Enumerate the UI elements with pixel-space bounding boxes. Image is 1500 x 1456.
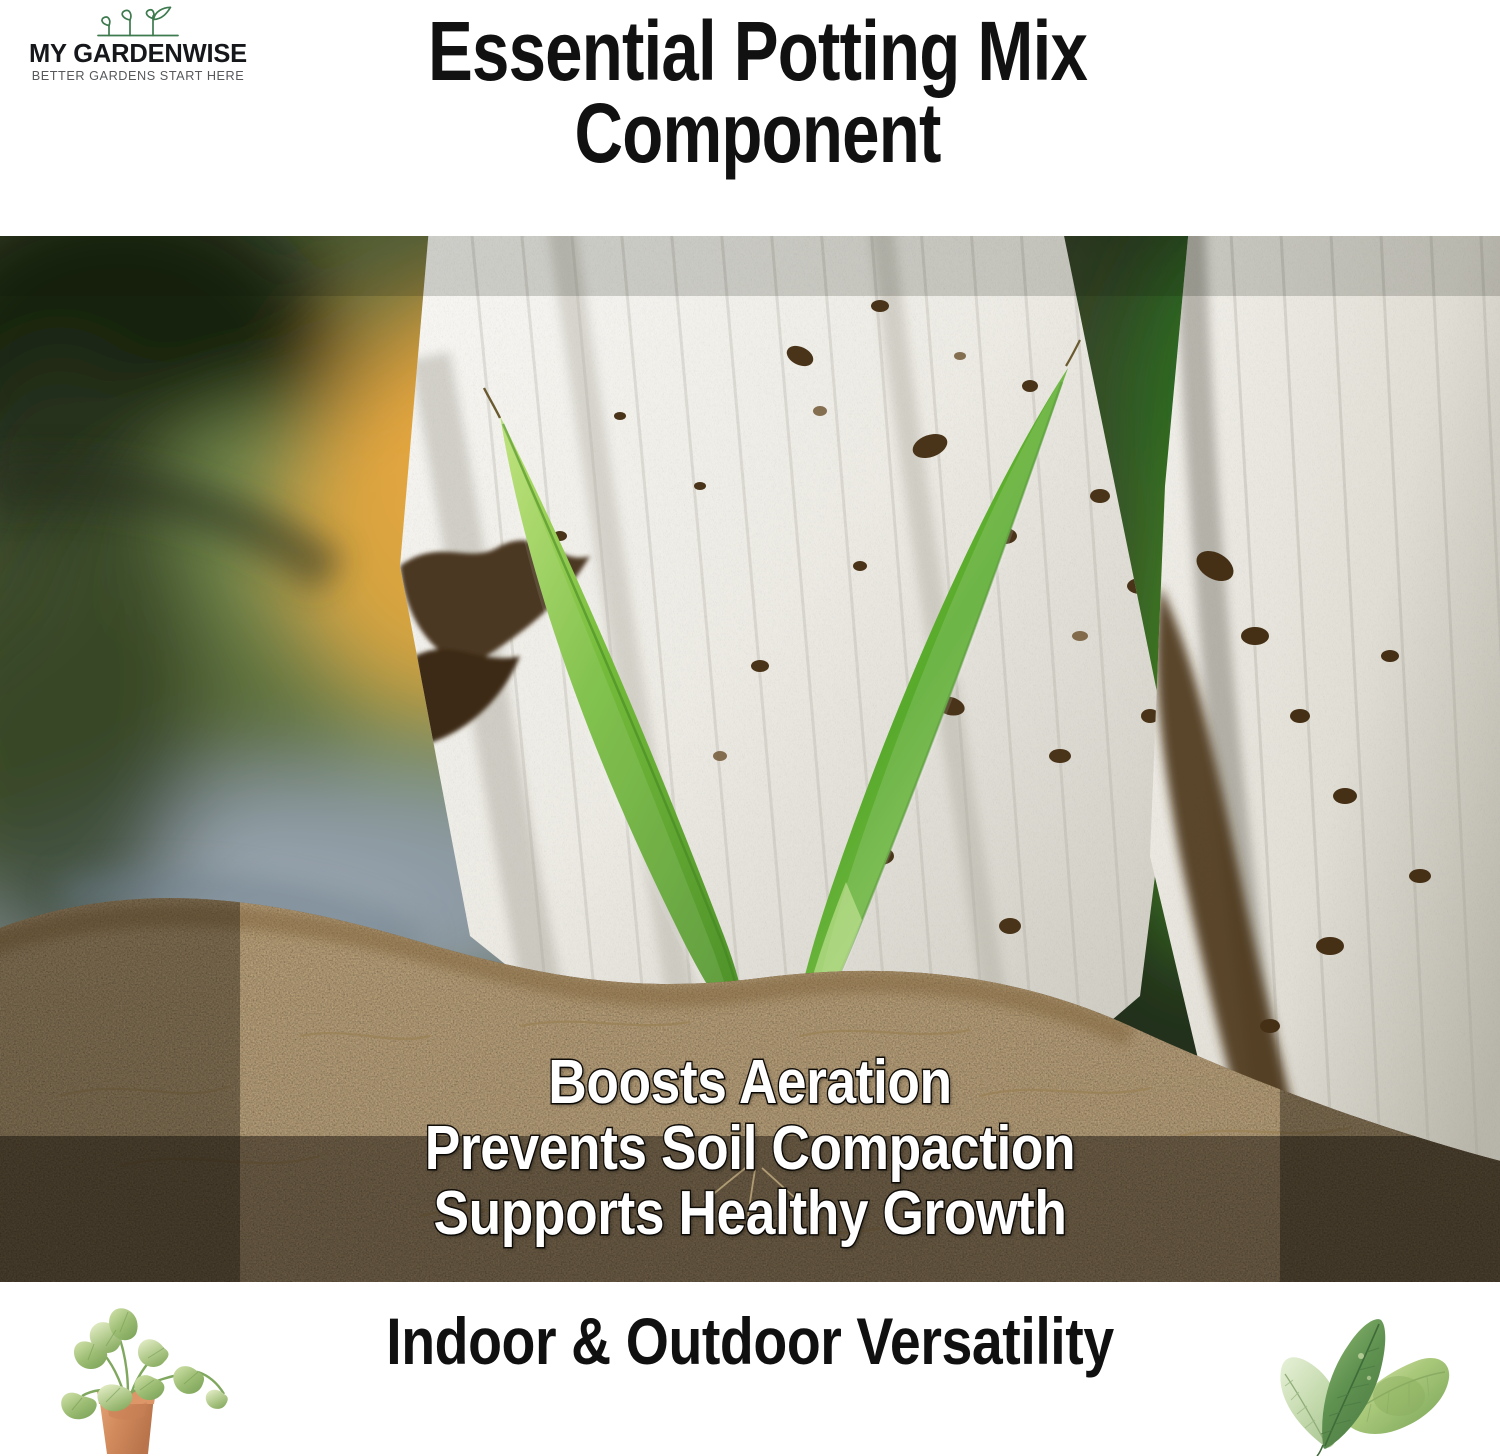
potted-pothos-plant-watercolor-icon xyxy=(58,1290,268,1456)
title-line-2: Component xyxy=(364,92,1152,174)
footer-band: Indoor & Outdoor Versatility xyxy=(0,1282,1500,1456)
brand-logo[interactable]: MY GARDENWISE BETTER GARDENS START HERE xyxy=(18,6,258,84)
product-infographic: MY GARDENWISE BETTER GARDENS START HERE … xyxy=(0,0,1500,1456)
benefit-line-3: Supports Healthy Growth xyxy=(105,1181,1395,1247)
footer-text: Indoor & Outdoor Versatility xyxy=(330,1308,1170,1374)
header-band: MY GARDENWISE BETTER GARDENS START HERE … xyxy=(0,0,1500,236)
three-sprouts-icon xyxy=(82,6,194,40)
brand-name: MY GARDENWISE xyxy=(29,41,247,67)
title-line-1: Essential Potting Mix xyxy=(428,4,1087,98)
three-green-leaves-watercolor-icon xyxy=(1275,1282,1475,1456)
benefit-line-2: Prevents Soil Compaction xyxy=(105,1116,1395,1182)
brand-tagline: BETTER GARDENS START HERE xyxy=(32,69,245,84)
page-title: Essential Potting Mix Component xyxy=(364,10,1152,175)
benefit-line-1: Boosts Aeration xyxy=(105,1050,1395,1116)
benefits-overlay: Boosts Aeration Prevents Soil Compaction… xyxy=(0,1050,1500,1247)
